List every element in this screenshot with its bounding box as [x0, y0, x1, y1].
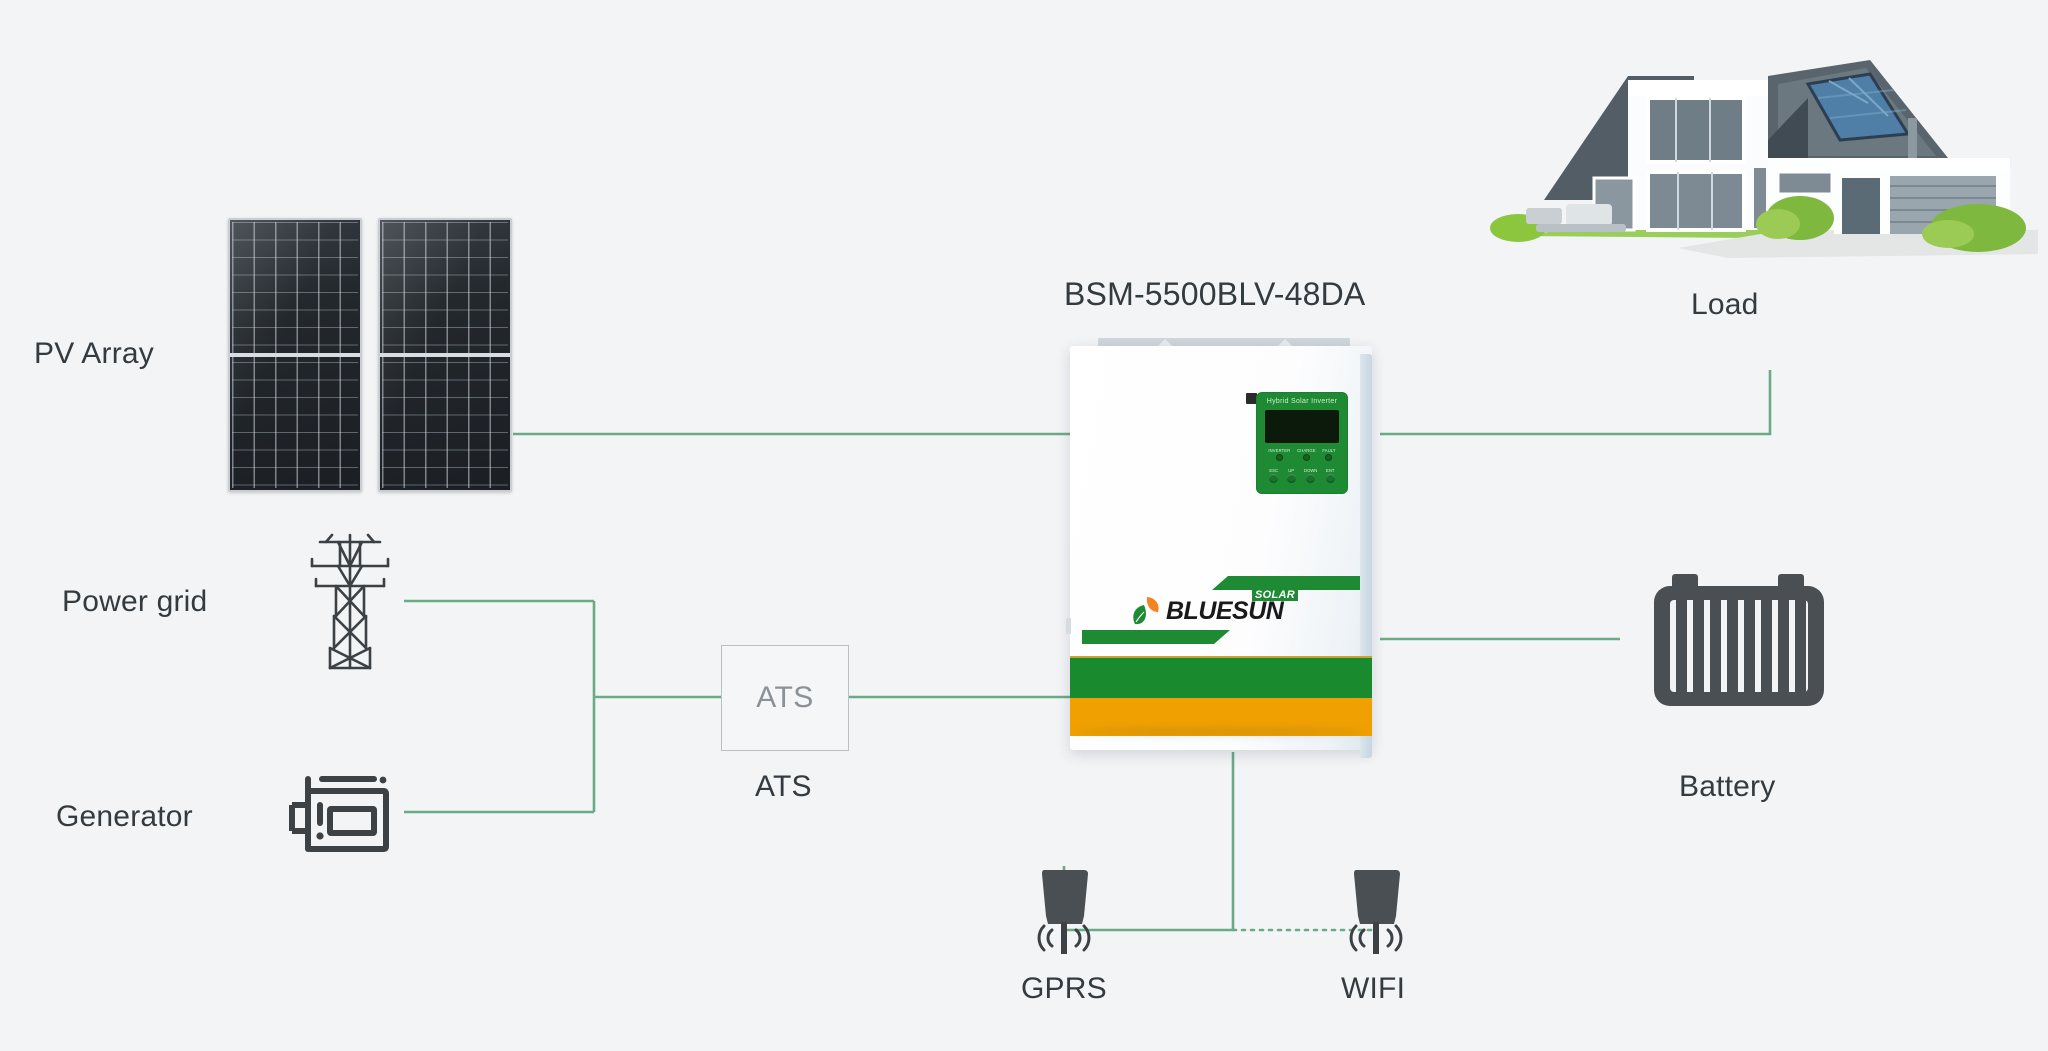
gprs-label: GPRS [1021, 972, 1107, 1006]
led-label: INVERTER [1268, 448, 1290, 453]
gprs-dongle-icon [1022, 866, 1106, 956]
hybrid-inverter-unit[interactable]: Hybrid Solar Inverter INVERTER CHARGE FA… [1070, 338, 1380, 750]
house-icon [1478, 40, 2038, 265]
bluesun-solar-tag: SOLAR [1252, 589, 1298, 601]
accent-stripe-top [1212, 576, 1360, 590]
diagram-canvas: BSM-5500BLV-48DA PV Array Power grid [0, 0, 2048, 1051]
inverter-control-panel[interactable]: Hybrid Solar Inverter INVERTER CHARGE FA… [1256, 392, 1348, 494]
button-label: DOWN [1304, 468, 1317, 473]
bluesun-leaf-icon [1130, 595, 1162, 629]
inverter-drop-shadow [1076, 728, 1368, 736]
transmission-tower-icon [300, 528, 400, 673]
button-label: ENT [1326, 468, 1334, 473]
wifi-dongle-icon [1334, 866, 1418, 956]
ats-label: ATS [755, 770, 812, 804]
generator-label: Generator [56, 800, 193, 834]
charge-led [1303, 454, 1310, 461]
ats-box-icon[interactable]: ATS [721, 645, 849, 751]
inverter-body: Hybrid Solar Inverter INVERTER CHARGE FA… [1070, 346, 1372, 750]
power-grid-label: Power grid [62, 585, 207, 619]
enter-button[interactable] [1326, 474, 1335, 483]
inverter-led [1276, 454, 1283, 461]
wifi-label: WIFI [1341, 972, 1405, 1006]
solar-panel-icon [228, 218, 513, 488]
bluesun-wordmark: BLUESUN [1166, 597, 1283, 626]
battery-label: Battery [1679, 770, 1775, 804]
control-panel-title: Hybrid Solar Inverter [1256, 398, 1348, 405]
load-label: Load [1691, 288, 1759, 322]
battery-icon [1648, 570, 1830, 712]
page-title: BSM-5500BLV-48DA [1064, 276, 1365, 313]
fault-led [1325, 454, 1332, 461]
led-label: CHARGE [1297, 448, 1316, 453]
bluesun-logo: BLUESUN SOLAR [1130, 591, 1320, 633]
button-label: ESC [1269, 468, 1278, 473]
up-button[interactable] [1287, 474, 1296, 483]
button-label: UP [1288, 468, 1294, 473]
esc-button[interactable] [1269, 474, 1278, 483]
led-label: FAULT [1322, 448, 1335, 453]
inverter-left-port [1066, 618, 1071, 634]
pv-array-label: PV Array [34, 337, 154, 371]
down-button[interactable] [1306, 474, 1315, 483]
inverter-green-band [1070, 656, 1372, 700]
lcd-display [1265, 410, 1339, 443]
ats-box-text: ATS [756, 681, 814, 715]
wire-inverter-to-load [1380, 370, 1770, 434]
generator-icon [282, 775, 392, 853]
led-indicator-row: INVERTER CHARGE FAULT [1265, 448, 1339, 461]
control-button-row: ESC UP DOWN ENT [1265, 468, 1339, 483]
